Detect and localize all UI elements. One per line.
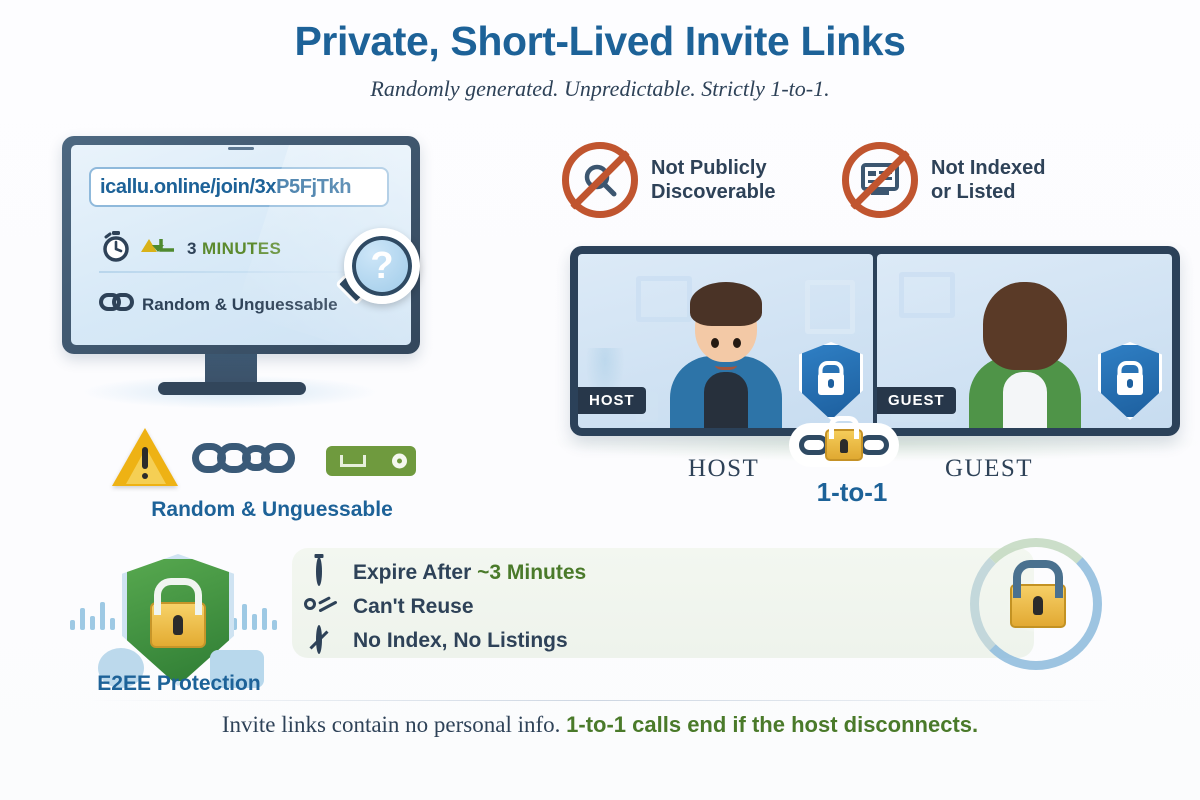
document-decor xyxy=(805,280,855,334)
feature-item-no-index: No Index, No Listings xyxy=(316,628,568,654)
host-tile-badge: HOST xyxy=(578,387,646,414)
expiry-row: 3 MINUTES xyxy=(99,229,281,268)
footer-divider xyxy=(86,700,1114,701)
badge-not-indexed-or-listed: Not Indexed or Listed xyxy=(842,142,1045,218)
feature-label: Expire After xyxy=(353,561,477,584)
warning-exclamation xyxy=(142,447,148,469)
random-row: Random & Unguessable xyxy=(99,289,338,320)
search-banned-icon xyxy=(562,142,638,218)
chain-right-icon xyxy=(859,435,889,455)
badge-line-2: Discoverable xyxy=(651,180,776,204)
feature-item-no-reuse: Can't Reuse xyxy=(316,594,474,620)
host-hair xyxy=(690,282,762,326)
host-eye-left xyxy=(733,338,741,348)
chain-link-icon xyxy=(261,443,295,473)
no-index-icon xyxy=(316,628,342,654)
monitor-stand-base xyxy=(158,382,306,395)
expiry-value: 3 MINUTES xyxy=(187,239,281,259)
badge-line-1: Not Publicly xyxy=(651,156,776,180)
feature-label: Can't Reuse xyxy=(353,595,474,618)
guest-avatar xyxy=(966,278,1084,428)
expiry-unit: MINUTES xyxy=(202,239,281,258)
host-eye-right xyxy=(711,338,719,348)
guest-hair xyxy=(983,282,1067,370)
guest-tile-badge: GUEST xyxy=(877,387,956,414)
random-unguessable-block: Random & Unguessable xyxy=(112,420,432,520)
badge-line-1: Not Indexed xyxy=(931,156,1045,180)
no-reuse-icon xyxy=(316,594,342,620)
chain-icons xyxy=(192,443,286,473)
stopwatch-icon xyxy=(316,560,342,586)
feature-label: No Index, No Listings xyxy=(353,629,568,652)
host-shirt xyxy=(704,372,748,428)
feature-panel: Expire After ~3 Minutes Can't Reuse No I… xyxy=(292,548,1034,658)
connection-label: 1-to-1 xyxy=(797,477,907,508)
invite-url-text: icallu.online/join/3xP5FjTkh xyxy=(100,176,351,199)
footer-text: Invite links contain no personal info. xyxy=(222,712,566,737)
video-tiles: HOST xyxy=(578,254,1172,428)
shield-lock-glyph xyxy=(818,373,844,395)
guest-label: GUEST xyxy=(945,455,1033,483)
key-icon xyxy=(326,446,416,476)
video-tile-guest[interactable]: GUEST xyxy=(877,254,1172,428)
e2ee-caption: E2EE Protection xyxy=(74,672,284,696)
badge-line-2: or Listed xyxy=(931,180,1045,204)
guest-shirt xyxy=(1003,372,1047,428)
host-avatar xyxy=(667,278,785,428)
badge-text: Not Indexed or Listed xyxy=(931,156,1045,205)
listing-banned-icon xyxy=(842,142,918,218)
video-tile-host[interactable]: HOST xyxy=(578,254,873,428)
stopwatch-icon xyxy=(99,229,133,268)
random-unguessable-caption: Random & Unguessable xyxy=(112,498,432,522)
infographic-canvas: Private, Short-Lived Invite Links Random… xyxy=(0,0,1200,800)
signal-wave-left-icon xyxy=(70,598,124,630)
secure-lock-badge xyxy=(952,554,1112,666)
feature-item-expire: Expire After ~3 Minutes xyxy=(316,560,586,586)
signal-wave-right-icon xyxy=(232,598,286,630)
shield-lock-glyph xyxy=(1117,373,1143,395)
feature-text: Can't Reuse xyxy=(353,595,474,619)
footer-highlight: 1-to-1 calls end if the host disconnects… xyxy=(566,712,978,737)
monitor-notch-icon xyxy=(228,147,254,150)
page-title: Private, Short-Lived Invite Links xyxy=(0,18,1200,65)
question-mark-glyph: ? xyxy=(352,236,412,296)
padlock-icon xyxy=(825,429,863,461)
host-mouth xyxy=(715,358,737,370)
magnifier-lens-icon: ? xyxy=(344,228,420,304)
one-to-one-link-lock-icon xyxy=(789,423,899,467)
feature-text: Expire After ~3 Minutes xyxy=(353,561,586,585)
e2ee-block: E2EE Protection xyxy=(78,550,278,700)
badge-text: Not Publicly Discoverable xyxy=(651,156,776,205)
expiry-number: 3 xyxy=(187,239,197,258)
host-label: HOST xyxy=(688,455,759,483)
expiry-arrow-icon xyxy=(140,236,180,261)
page-subtitle: Randomly generated. Unpredictable. Stric… xyxy=(0,76,1200,102)
feature-text: No Index, No Listings xyxy=(353,629,568,653)
picture-frame-decor xyxy=(899,272,955,318)
footer-note: Invite links contain no personal info. 1… xyxy=(0,712,1200,738)
chain-link-icon xyxy=(99,289,135,320)
video-call-panel: HOST xyxy=(570,246,1180,436)
e2ee-padlock-icon xyxy=(150,602,206,648)
warning-dot xyxy=(142,473,148,479)
invite-url-field[interactable]: icallu.online/join/3xP5FjTkh xyxy=(89,167,389,207)
feature-highlight: ~3 Minutes xyxy=(477,561,586,584)
random-label: Random & Unguessable xyxy=(142,295,338,315)
magnifier-question-icon: ? xyxy=(322,222,426,326)
badge-not-publicly-discoverable: Not Publicly Discoverable xyxy=(562,142,776,218)
secure-padlock-icon xyxy=(1010,584,1066,628)
